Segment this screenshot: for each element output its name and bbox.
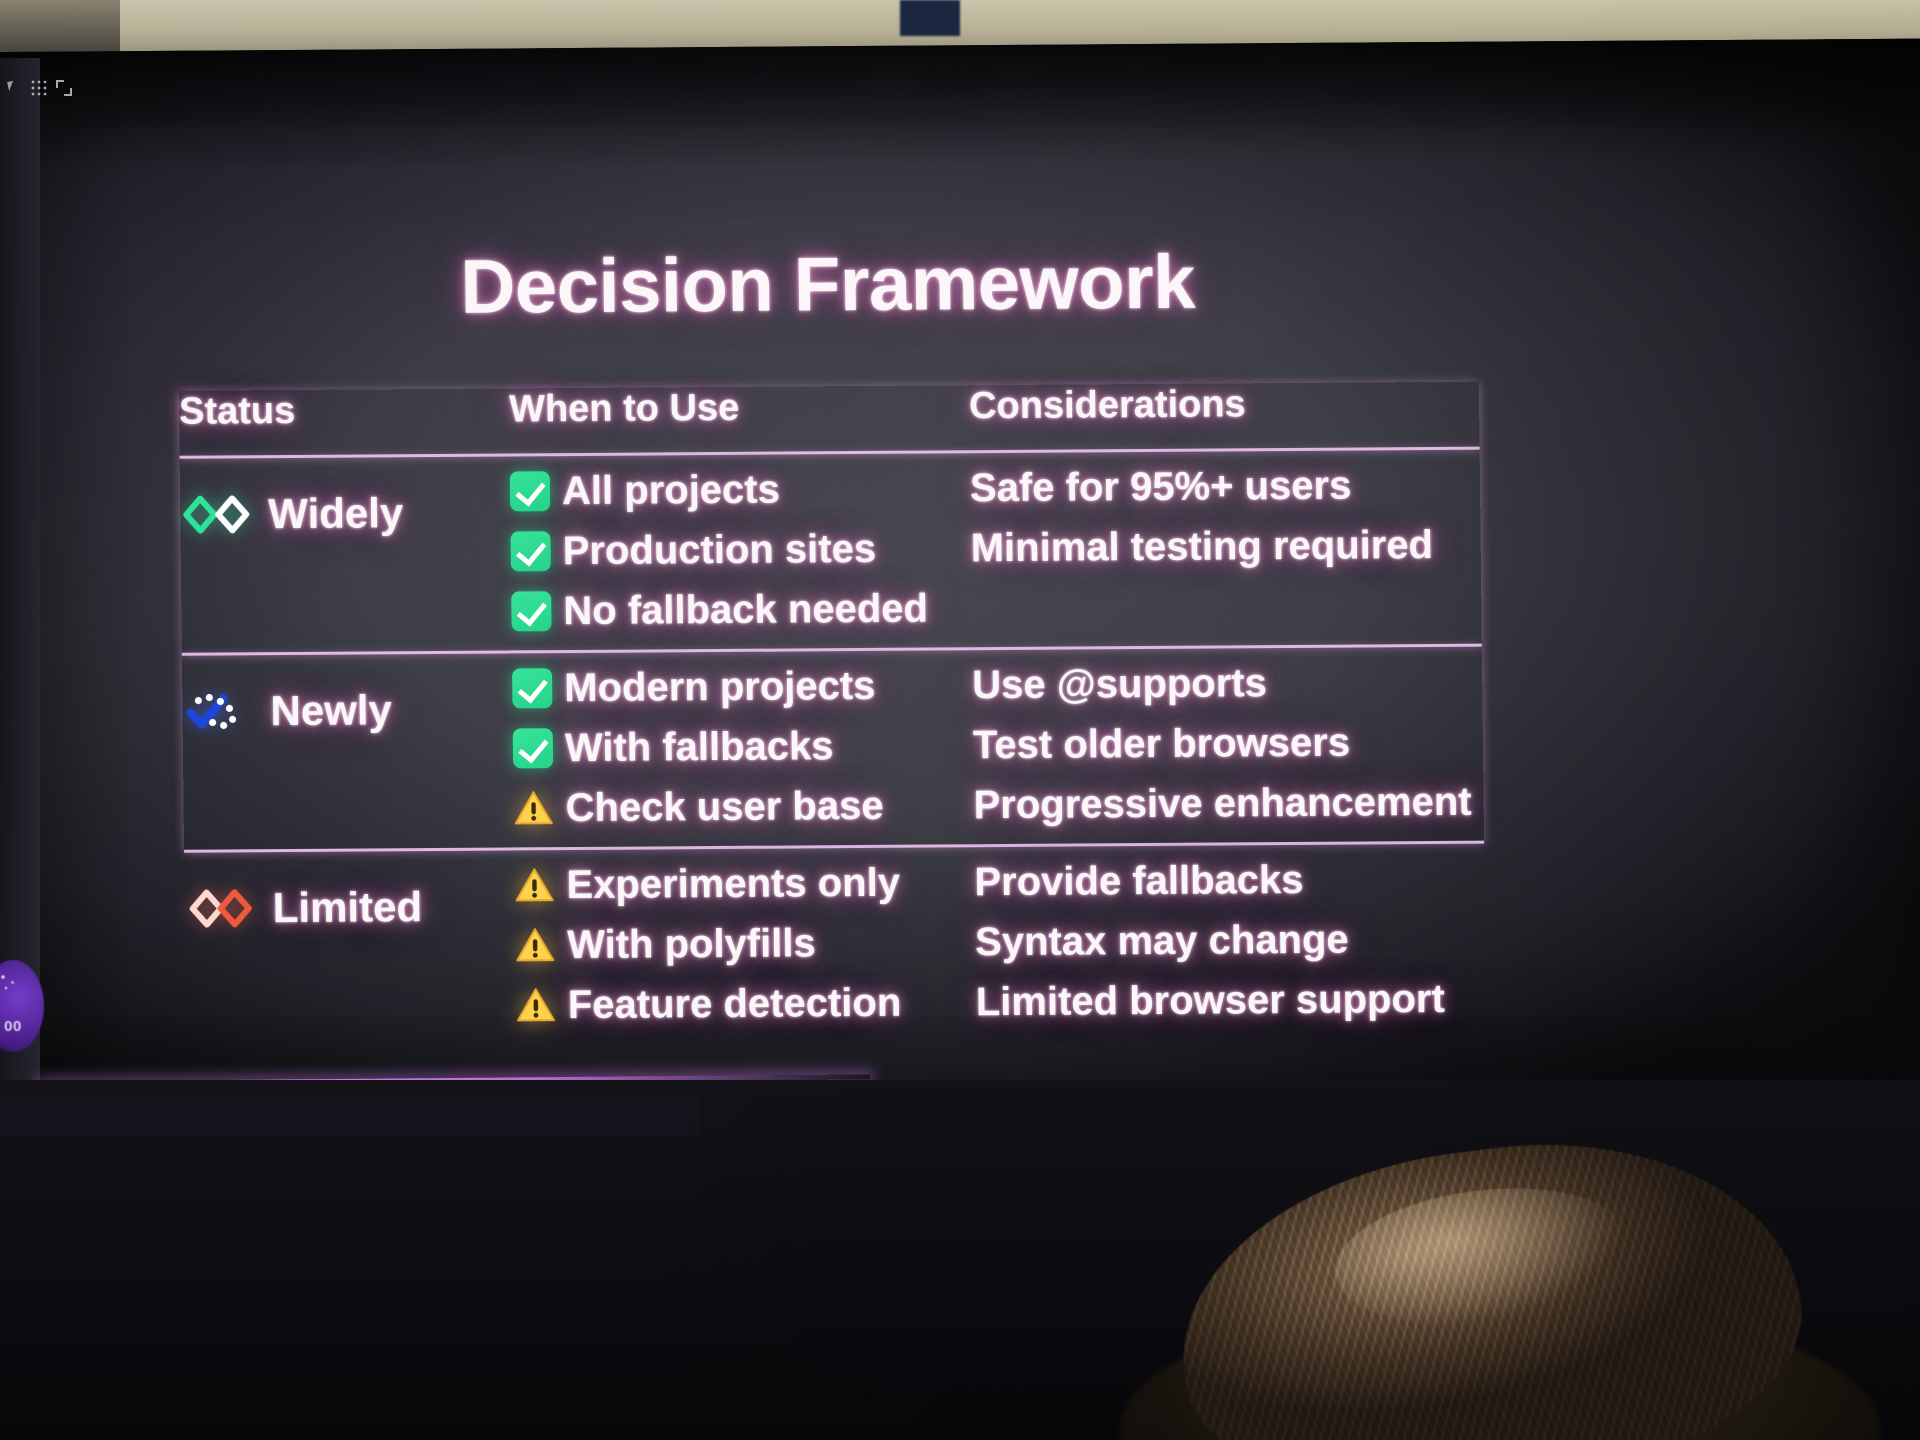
consideration-line: Safe for 95%+ users bbox=[970, 464, 1480, 510]
page-title: Decision Framework bbox=[0, 235, 1788, 335]
warning-icon bbox=[513, 788, 553, 828]
list-item-label: No fallback needed bbox=[563, 588, 928, 633]
status-label: Limited bbox=[272, 883, 422, 932]
check-icon bbox=[513, 728, 553, 768]
column-header-status: Status bbox=[179, 388, 510, 457]
consideration-line: Progressive enhancement bbox=[973, 781, 1483, 827]
check-icon bbox=[511, 591, 551, 631]
check-icon bbox=[510, 531, 550, 571]
table-row: Limited Experimen bbox=[184, 842, 1486, 1047]
wall-post bbox=[900, 0, 960, 36]
table-row: Newly Modern projects With fallbacks bbox=[182, 645, 1484, 851]
list-item-label: Production sites bbox=[562, 528, 876, 572]
list-item-label: Modern projects bbox=[564, 665, 876, 709]
list-item: With polyfills bbox=[515, 921, 975, 966]
baseline-newly-available-icon bbox=[182, 691, 256, 732]
list-item: Experiments only bbox=[514, 861, 974, 906]
stage-left-band bbox=[0, 1096, 700, 1136]
grid-icon[interactable] bbox=[31, 80, 47, 96]
presentation-controls[interactable] bbox=[6, 80, 72, 96]
check-icon bbox=[512, 668, 552, 708]
sparkle-icon bbox=[0, 974, 22, 996]
table-header-row: Status When to Use Considerations bbox=[179, 382, 1480, 458]
column-header-considerations: Considerations bbox=[969, 382, 1480, 452]
baseline-limited-availability-icon bbox=[185, 888, 259, 929]
list-item-label: Experiments only bbox=[566, 862, 900, 906]
list-item-label: Check user base bbox=[565, 785, 883, 829]
list-item: Check user base bbox=[513, 784, 973, 829]
list-item: Production sites bbox=[510, 527, 970, 572]
consideration-line: Syntax may change bbox=[975, 918, 1485, 964]
list-item-label: Feature detection bbox=[568, 982, 902, 1026]
when-to-use-cell: Modern projects With fallbacks bbox=[512, 649, 974, 849]
when-to-use-cell: Experiments only With polyfills bbox=[514, 846, 976, 1045]
corner-badge-label: 00 bbox=[0, 1018, 44, 1035]
table-row: Widely All projects Production sites bbox=[180, 448, 1482, 654]
consideration-line: Minimal testing required bbox=[970, 524, 1480, 570]
considerations-cell: Use @supports Test older browsers Progre… bbox=[972, 645, 1484, 846]
consideration-line: Limited browser support bbox=[976, 978, 1486, 1024]
status-cell-limited: Limited bbox=[184, 849, 516, 1047]
status-label: Newly bbox=[270, 686, 392, 735]
when-to-use-cell: All projects Production sites No fallbac… bbox=[510, 452, 972, 652]
list-item-label: All projects bbox=[562, 469, 780, 513]
list-item: All projects bbox=[510, 467, 970, 512]
warning-icon bbox=[514, 865, 554, 905]
considerations-cell: Provide fallbacks Syntax may change Limi… bbox=[974, 842, 1486, 1041]
column-header-when-to-use: When to Use bbox=[509, 385, 970, 455]
pointer-icon[interactable] bbox=[6, 80, 22, 96]
list-item-label: With fallbacks bbox=[565, 725, 834, 769]
fullscreen-icon[interactable] bbox=[56, 80, 72, 96]
consideration-line: Provide fallbacks bbox=[974, 858, 1484, 904]
warning-icon bbox=[515, 925, 555, 965]
list-item: With fallbacks bbox=[513, 724, 973, 769]
consideration-line: Test older browsers bbox=[973, 721, 1483, 767]
considerations-cell: Safe for 95%+ users Minimal testing requ… bbox=[970, 448, 1482, 649]
status-cell-widely: Widely bbox=[180, 455, 512, 654]
warning-icon bbox=[516, 985, 556, 1025]
list-item: No fallback needed bbox=[511, 587, 971, 632]
conference-room-photo: Decision Framework Status When to Use Co… bbox=[0, 0, 1920, 1440]
check-icon bbox=[510, 471, 550, 511]
slide-content: Decision Framework Status When to Use Co… bbox=[0, 39, 1920, 1097]
decision-framework-table: Status When to Use Considerations bbox=[179, 382, 1486, 1047]
consideration-line: Use @supports bbox=[972, 661, 1482, 707]
status-cell-newly: Newly bbox=[182, 652, 514, 851]
status-label: Widely bbox=[268, 489, 404, 538]
list-item: Feature detection bbox=[516, 981, 976, 1026]
baseline-widely-available-icon bbox=[180, 494, 254, 535]
list-item: Modern projects bbox=[512, 664, 972, 709]
list-item-label: With polyfills bbox=[567, 922, 816, 966]
